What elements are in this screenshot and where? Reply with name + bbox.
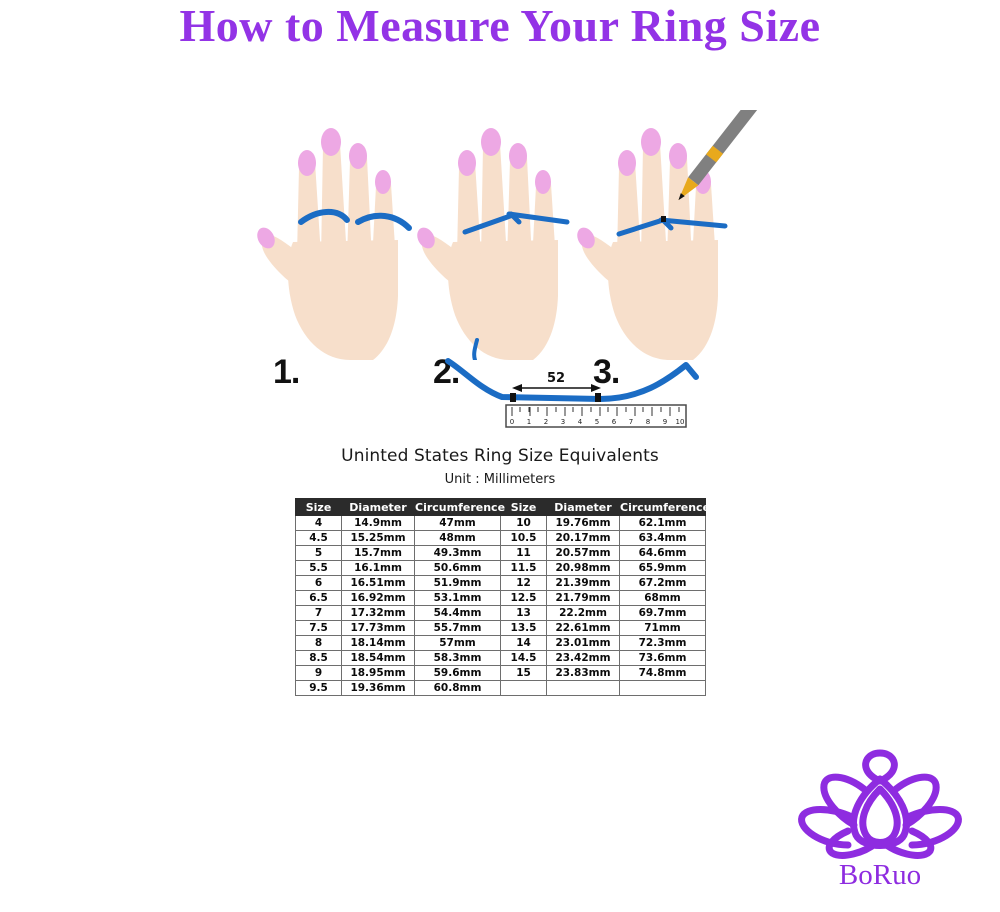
table-cell: 73.6mm — [620, 651, 706, 666]
table-title: Uninted States Ring Size Equivalents — [0, 446, 1000, 466]
table-cell: 18.95mm — [342, 666, 415, 681]
table-cell: 18.14mm — [342, 636, 415, 651]
step-3-illustration: 3. — [575, 110, 765, 360]
table-row: 717.32mm54.4mm1322.2mm69.7mm — [296, 606, 706, 621]
table-row: 8.518.54mm58.3mm14.523.42mm73.6mm — [296, 651, 706, 666]
table-cell: 51.9mm — [415, 576, 501, 591]
table-cell: 14 — [501, 636, 547, 651]
step-1-number: 1. — [273, 353, 299, 392]
table-row: 918.95mm59.6mm1523.83mm74.8mm — [296, 666, 706, 681]
string-path — [448, 361, 696, 399]
table-cell: 62.1mm — [620, 516, 706, 531]
measured-length-label: 52 — [547, 371, 565, 386]
table-cell: 9 — [296, 666, 342, 681]
table-cell: 21.79mm — [547, 591, 620, 606]
table-cell: 20.17mm — [547, 531, 620, 546]
table-cell: 20.98mm — [547, 561, 620, 576]
table-cell — [620, 681, 706, 696]
pencil-icon — [673, 110, 765, 204]
table-row: 5.516.1mm50.6mm11.520.98mm65.9mm — [296, 561, 706, 576]
string-ruler-measurement: 52 0 — [440, 355, 725, 437]
table-cell: 57mm — [415, 636, 501, 651]
table-cell: 12 — [501, 576, 547, 591]
table-cell: 13 — [501, 606, 547, 621]
table-cell: 20.57mm — [547, 546, 620, 561]
svg-text:10: 10 — [676, 418, 685, 426]
table-cell: 23.42mm — [547, 651, 620, 666]
table-cell: 11.5 — [501, 561, 547, 576]
table-cell: 65.9mm — [620, 561, 706, 576]
mark-end — [595, 393, 601, 402]
header-diameter-left: Diameter — [342, 499, 415, 516]
table-header-row: Size Diameter Circumference Size Diamete… — [296, 499, 706, 516]
table-cell: 21.39mm — [547, 576, 620, 591]
svg-text:0: 0 — [510, 418, 514, 426]
header-circumference-left: Circumference — [415, 499, 501, 516]
table-cell: 74.8mm — [620, 666, 706, 681]
table-cell: 50.6mm — [415, 561, 501, 576]
table-cell: 68mm — [620, 591, 706, 606]
table-cell: 63.4mm — [620, 531, 706, 546]
table-cell: 53.1mm — [415, 591, 501, 606]
table-row: 9.519.36mm60.8mm — [296, 681, 706, 696]
table-cell: 64.6mm — [620, 546, 706, 561]
brand-logo: BoRuo — [790, 745, 970, 900]
table-cell — [501, 681, 547, 696]
table-cell: 14.9mm — [342, 516, 415, 531]
table-row: 4.515.25mm48mm10.520.17mm63.4mm — [296, 531, 706, 546]
table-cell: 55.7mm — [415, 621, 501, 636]
table-cell: 69.7mm — [620, 606, 706, 621]
svg-text:7: 7 — [629, 418, 633, 426]
table-cell: 22.61mm — [547, 621, 620, 636]
table-cell: 4 — [296, 516, 342, 531]
table-cell: 58.3mm — [415, 651, 501, 666]
header-diameter-right: Diameter — [547, 499, 620, 516]
table-cell: 67.2mm — [620, 576, 706, 591]
svg-text:8: 8 — [646, 418, 650, 426]
table-cell: 13.5 — [501, 621, 547, 636]
table-cell: 72.3mm — [620, 636, 706, 651]
svg-text:1: 1 — [527, 418, 531, 426]
table-row: 515.7mm49.3mm1120.57mm64.6mm — [296, 546, 706, 561]
mark-start — [510, 393, 516, 402]
table-cell: 18.54mm — [342, 651, 415, 666]
table-cell: 5 — [296, 546, 342, 561]
table-cell: 71mm — [620, 621, 706, 636]
table-cell: 49.3mm — [415, 546, 501, 561]
table-cell: 7.5 — [296, 621, 342, 636]
table-cell: 23.01mm — [547, 636, 620, 651]
svg-text:6: 6 — [612, 418, 617, 426]
table-cell: 7 — [296, 606, 342, 621]
table-cell: 19.76mm — [547, 516, 620, 531]
svg-text:4: 4 — [578, 418, 583, 426]
table-cell: 8 — [296, 636, 342, 651]
table-body: 414.9mm47mm1019.76mm62.1mm4.515.25mm48mm… — [296, 516, 706, 696]
table-unit-label: Unit : Millimeters — [0, 472, 1000, 487]
ring-size-table: Size Diameter Circumference Size Diamete… — [295, 498, 706, 696]
table-cell — [547, 681, 620, 696]
table-cell: 9.5 — [296, 681, 342, 696]
page-title: How to Measure Your Ring Size — [0, 0, 1000, 52]
svg-text:9: 9 — [663, 418, 667, 426]
table-cell: 47mm — [415, 516, 501, 531]
svg-text:2: 2 — [544, 418, 548, 426]
table-cell: 15.7mm — [342, 546, 415, 561]
table-cell: 6 — [296, 576, 342, 591]
table-cell: 19.36mm — [342, 681, 415, 696]
table-cell: 16.51mm — [342, 576, 415, 591]
brand-name: BoRuo — [790, 859, 970, 892]
table-cell: 48mm — [415, 531, 501, 546]
table-cell: 6.5 — [296, 591, 342, 606]
svg-text:3: 3 — [561, 418, 565, 426]
table-row: 818.14mm57mm1423.01mm72.3mm — [296, 636, 706, 651]
table-cell: 16.1mm — [342, 561, 415, 576]
table-cell: 8.5 — [296, 651, 342, 666]
table-cell: 15 — [501, 666, 547, 681]
table-row: 6.516.92mm53.1mm12.521.79mm68mm — [296, 591, 706, 606]
svg-text:5: 5 — [595, 418, 599, 426]
table-cell: 4.5 — [296, 531, 342, 546]
table-row: 7.517.73mm55.7mm13.522.61mm71mm — [296, 621, 706, 636]
hand-diagram-step-3 — [575, 110, 765, 360]
ring-size-table-block: Uninted States Ring Size Equivalents Uni… — [0, 446, 1000, 696]
table-row: 616.51mm51.9mm1221.39mm67.2mm — [296, 576, 706, 591]
table-cell: 10 — [501, 516, 547, 531]
table-cell: 22.2mm — [547, 606, 620, 621]
table-cell: 11 — [501, 546, 547, 561]
ruler-diagram: 52 0 — [440, 355, 725, 437]
lotus-figure-icon — [790, 745, 970, 863]
table-cell: 15.25mm — [342, 531, 415, 546]
table-cell: 54.4mm — [415, 606, 501, 621]
header-circumference-right: Circumference — [620, 499, 706, 516]
table-row: 414.9mm47mm1019.76mm62.1mm — [296, 516, 706, 531]
table-cell: 60.8mm — [415, 681, 501, 696]
header-size-left: Size — [296, 499, 342, 516]
table-cell: 59.6mm — [415, 666, 501, 681]
table-cell: 17.32mm — [342, 606, 415, 621]
table-cell: 23.83mm — [547, 666, 620, 681]
table-cell: 10.5 — [501, 531, 547, 546]
table-cell: 14.5 — [501, 651, 547, 666]
header-size-right: Size — [501, 499, 547, 516]
table-cell: 17.73mm — [342, 621, 415, 636]
table-cell: 12.5 — [501, 591, 547, 606]
table-cell: 16.92mm — [342, 591, 415, 606]
table-cell: 5.5 — [296, 561, 342, 576]
